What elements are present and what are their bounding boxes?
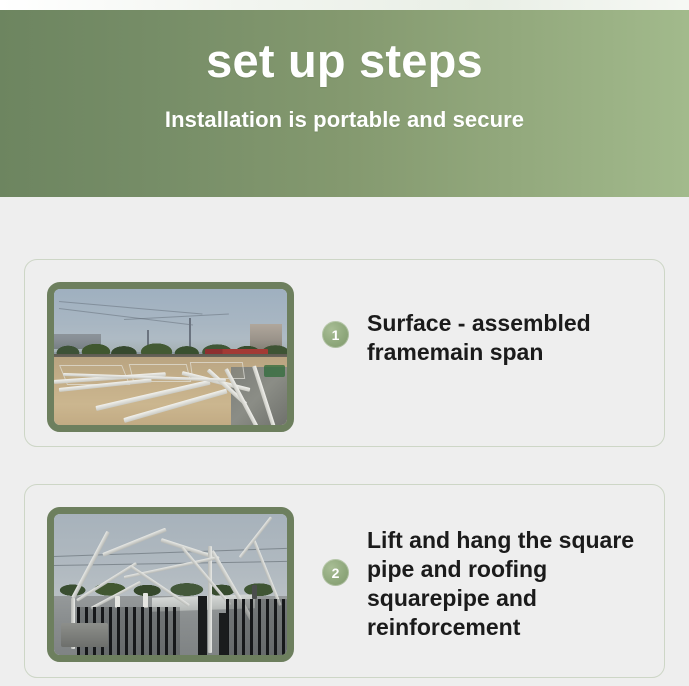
page-header: set up steps Installation is portable an… [0,10,689,197]
step-1-text: Surface - assembled framemain span [367,309,664,367]
step-1-line-2: framemain span [367,338,664,367]
assembled-floor-frame-photo [54,289,287,425]
tent-frame-arch-photo [54,514,287,655]
step-2-number-badge: 2 [322,559,349,586]
step-1-number-badge: 1 [322,321,349,348]
page-subtitle: Installation is portable and secure [165,107,524,133]
step-2-text: Lift and hang the square pipe and roofin… [367,526,664,642]
step-2-line-3: squarepipe and [367,584,664,613]
step-2-line-1: Lift and hang the square [367,526,664,555]
page-title: set up steps [206,36,483,85]
step-2-line-4: reinforcement [367,613,664,642]
step-1-line-1: Surface - assembled [367,309,664,338]
steps-content: 1 Surface - assembled framemain span [0,197,689,686]
step-card-1[interactable]: 1 Surface - assembled framemain span [24,259,665,447]
step-2-line-2: pipe and roofing [367,555,664,584]
step-card-2[interactable]: 2 Lift and hang the square pipe and roof… [24,484,665,678]
step-2-photo-frame [47,507,294,662]
step-1-photo-frame [47,282,294,432]
top-light-strip [0,0,689,10]
